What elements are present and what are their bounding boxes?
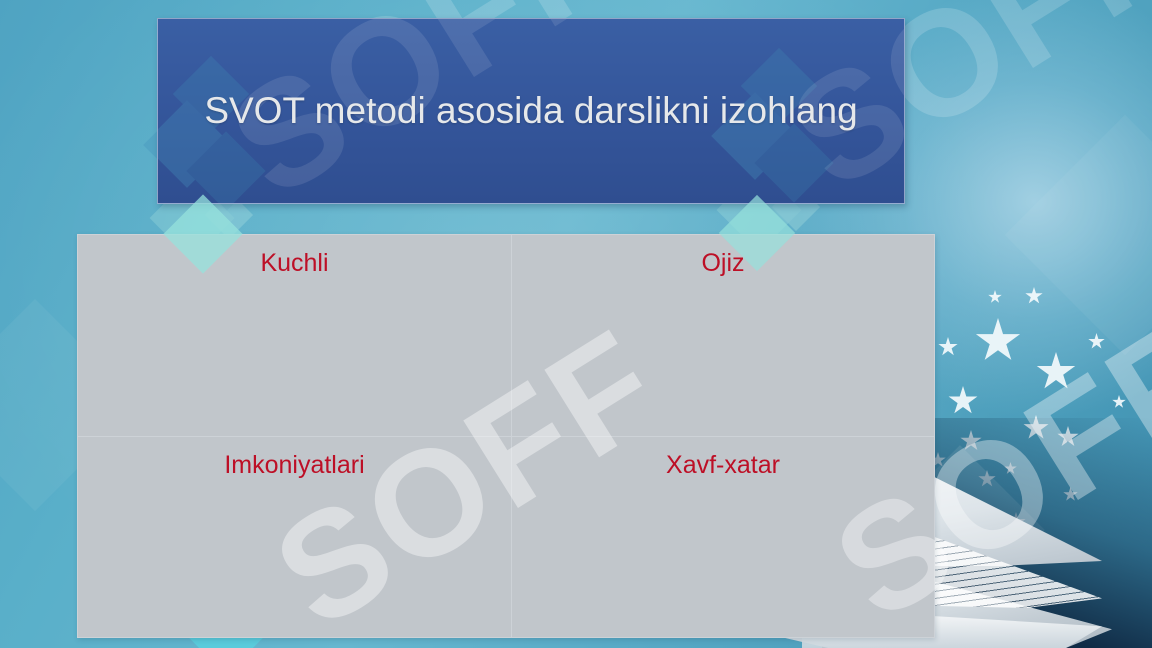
swot-cell-label: Kuchli <box>260 249 328 278</box>
page-title: SVOT metodi asosida darslikni izohlang <box>170 81 891 141</box>
swot-cell-label: Xavf-xatar <box>666 451 780 480</box>
slide-canvas: SOFF SOFF SOFF SOFF SVOT metodi asosida … <box>0 0 1152 648</box>
slide-title-box: SOFF SOFF SVOT metodi asosida darslikni … <box>157 18 905 204</box>
swot-cell-label: Ojiz <box>701 249 744 278</box>
